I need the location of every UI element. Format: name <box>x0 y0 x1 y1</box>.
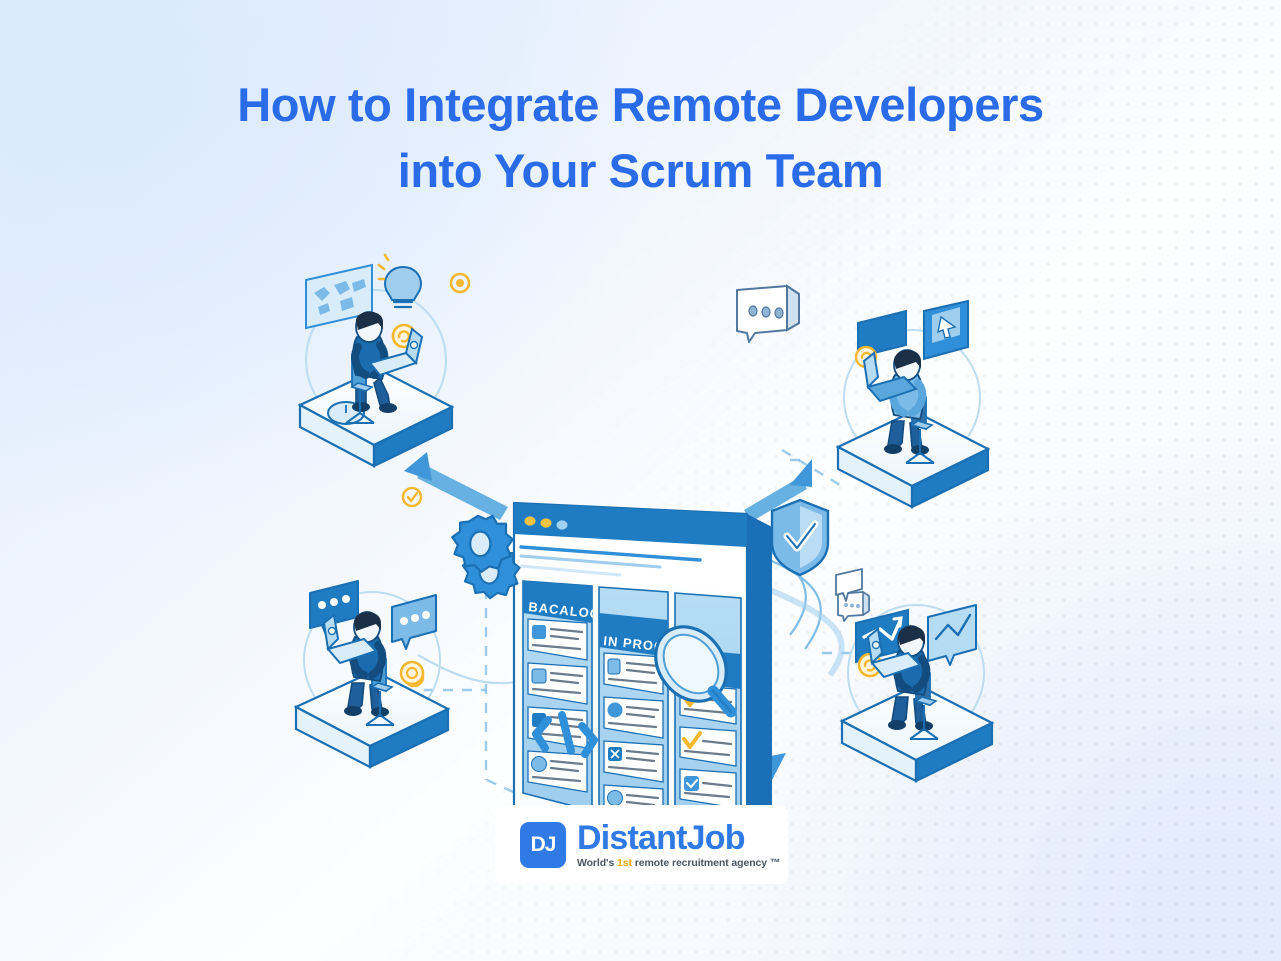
chat-bubble-icon <box>392 595 436 649</box>
lightbulb-icon <box>379 255 421 307</box>
coin-badge-icon <box>401 662 423 684</box>
poster-canvas: How to Integrate Remote Developers into … <box>0 0 1281 961</box>
scrum-illustration: BACALOG <box>0 235 1281 805</box>
logo-mark-icon: DJ <box>520 822 566 868</box>
chart-screen <box>928 605 976 665</box>
logo-tagline-highlight: 1st <box>617 857 632 869</box>
gallery-screen <box>858 235 906 357</box>
logo-tagline-pre: World's <box>577 857 617 869</box>
avatar-icon <box>532 757 547 772</box>
scrum-board-window[interactable]: BACALOG <box>514 503 772 805</box>
logo-mark-text: DJ <box>531 833 556 857</box>
chat-bubble-icon <box>737 286 799 342</box>
page-title-line-1: How to Integrate Remote Developers <box>0 72 1281 138</box>
backlog-column[interactable]: BACALOG <box>523 581 602 805</box>
brand-logo[interactable]: DJ DistantJob World's 1st remote recruit… <box>494 806 788 884</box>
logo-tagline-post: remote recruitment agency ™ <box>632 857 780 869</box>
contact-card-icon <box>532 669 546 683</box>
logo-text-block: DistantJob World's 1st remote recruitmen… <box>577 821 780 869</box>
avatar-icon <box>608 791 623 806</box>
developer-bottom-left <box>296 581 448 767</box>
user-icon <box>532 625 546 639</box>
logo-wordmark: DistantJob <box>577 821 780 855</box>
page-title-line-2: into Your Scrum Team <box>0 138 1281 204</box>
svg-text:</>: </> <box>565 720 588 737</box>
clock-icon <box>608 703 623 718</box>
isometric-illustration-svg: BACALOG <box>0 235 1281 805</box>
logo-tagline: World's 1st remote recruitment agency ™ <box>577 858 780 869</box>
battery-icon <box>608 659 620 674</box>
chat-bubble-small-icon <box>838 592 869 621</box>
developer-top-right <box>838 235 988 507</box>
page-title: How to Integrate Remote Developers into … <box>0 72 1281 204</box>
shield-check-icon <box>772 500 828 575</box>
developer-top-left <box>300 255 452 466</box>
